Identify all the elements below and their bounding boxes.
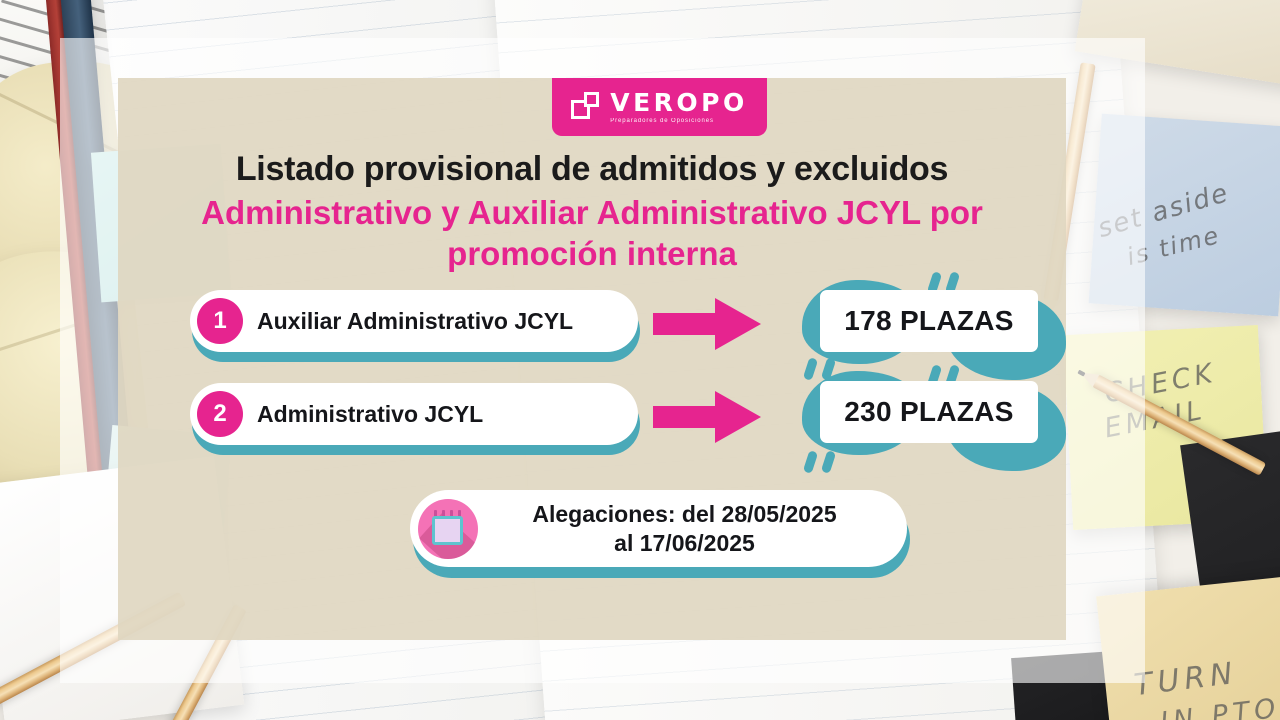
alegaciones-bar[interactable]: Alegaciones: del 28/05/2025 al 17/06/202… [410,490,910,578]
arrow-right-icon [653,296,763,352]
page-title: Listado provisional de admitidos y exclu… [118,150,1066,189]
item-number-badge: 1 [197,298,243,344]
calendar-icon [418,499,478,559]
pill-body[interactable]: 1 Auxiliar Administrativo JCYL [190,290,638,352]
brand-logo-badge: VEROPO Preparadores de Oposiciones [552,78,767,136]
arrow-right-icon [653,389,763,445]
list-item[interactable]: 2 Administrativo JCYL [190,383,640,449]
alegaciones-line2: al 17/06/2025 [614,530,755,556]
item-label: Auxiliar Administrativo JCYL [257,308,573,335]
two-squares-logo-icon [571,92,601,122]
brand-name: VEROPO [610,90,748,115]
plazas-box: 230 PLAZAS [820,381,1038,443]
pill-body[interactable]: Alegaciones: del 28/05/2025 al 17/06/202… [410,490,907,567]
list-item[interactable]: 1 Auxiliar Administrativo JCYL [190,290,640,356]
infographic-content: VEROPO Preparadores de Oposiciones Lista… [118,78,1066,640]
decor-tick [803,450,818,474]
item-label: Administrativo JCYL [257,401,483,428]
alegaciones-line1: Alegaciones: del 28/05/2025 [532,501,836,527]
plazas-count: 230 PLAZAS [844,396,1014,428]
page-subtitle: Administrativo y Auxiliar Administrativo… [132,192,1052,275]
plazas-box: 178 PLAZAS [820,290,1038,352]
plazas-badge: 230 PLAZAS [798,363,1066,473]
item-number-badge: 2 [197,391,243,437]
brand-tagline: Preparadores de Oposiciones [610,118,748,124]
plazas-count: 178 PLAZAS [844,305,1014,337]
pill-body[interactable]: 2 Administrativo JCYL [190,383,638,445]
decor-tick [821,450,836,474]
